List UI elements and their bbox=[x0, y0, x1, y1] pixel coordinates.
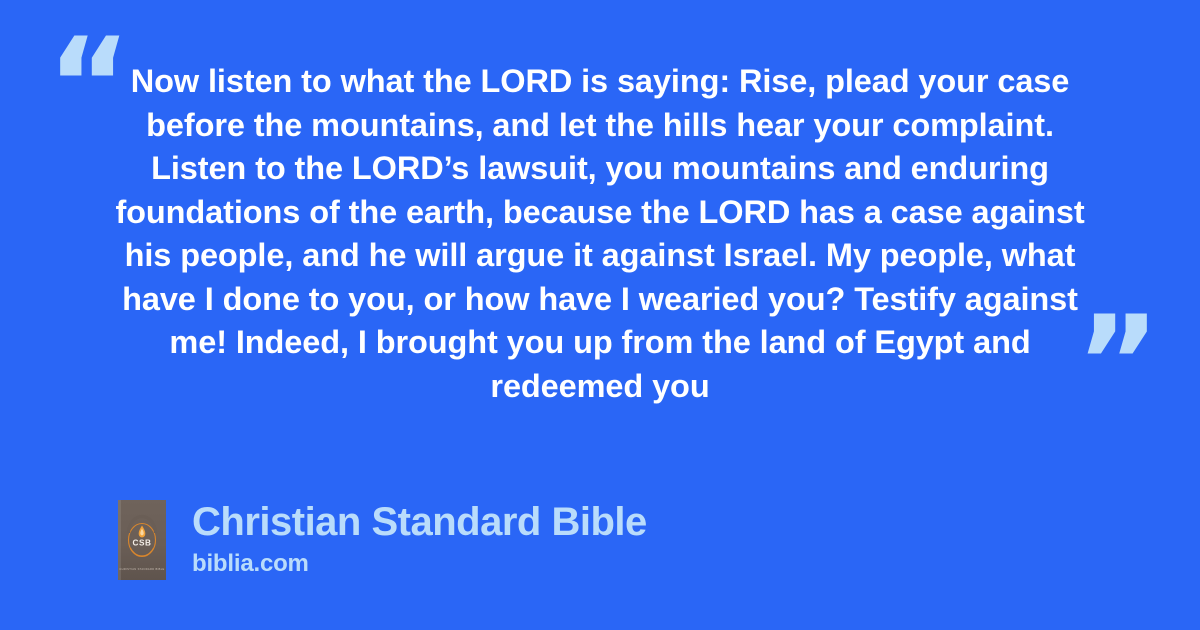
quote-block: Now listen to what the LORD is saying: R… bbox=[108, 60, 1092, 408]
brand-text-group: Christian Standard Bible biblia.com bbox=[192, 500, 647, 578]
csb-book-cover-image: CSB CHRISTIAN STANDARD BIBLE bbox=[118, 500, 166, 580]
bible-translation-title: Christian Standard Bible bbox=[192, 500, 647, 544]
bible-verse-share-card: “ Now listen to what the LORD is saying:… bbox=[0, 0, 1200, 630]
branding-footer: CSB CHRISTIAN STANDARD BIBLE Christian S… bbox=[118, 500, 647, 580]
cover-subtitle: CHRISTIAN STANDARD BIBLE bbox=[118, 568, 166, 571]
verse-text: Now listen to what the LORD is saying: R… bbox=[108, 60, 1092, 408]
svg-text:CSB: CSB bbox=[132, 539, 151, 548]
closing-quote-icon: ” bbox=[1076, 300, 1158, 428]
source-website-url: biblia.com bbox=[192, 550, 647, 578]
